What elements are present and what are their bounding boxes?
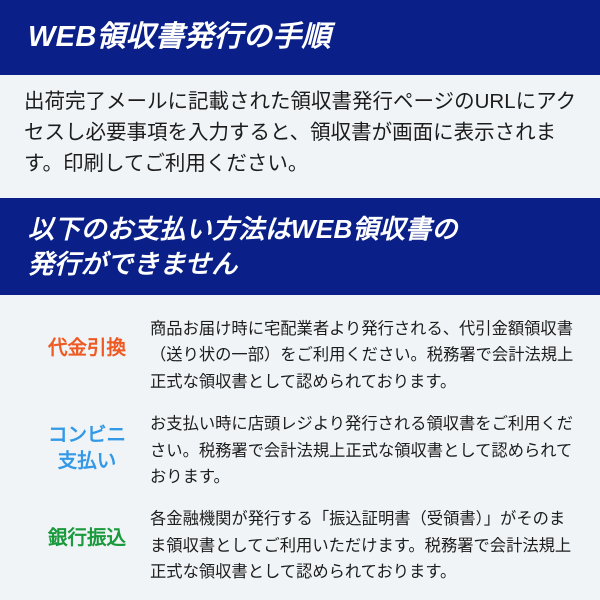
- payment-method-label-konbini: コンビニ 支払い: [26, 407, 148, 474]
- payment-method-row-cod: 代金引換 商品お届け時に宅配業者より発行される、代引金額領収書（送り状の一部）を…: [0, 312, 600, 395]
- payment-method-label-bank: 銀行振込: [26, 502, 148, 551]
- payment-method-row-konbini: コンビニ 支払い お支払い時に店頭レジより発行される領収書をご利用ください。税務…: [0, 407, 600, 490]
- payment-method-description-konbini: お支払い時に店頭レジより発行される領収書をご利用ください。税務署で会計法規上正式…: [148, 407, 576, 490]
- intro-paragraph: 出荷完了メールに記載された領収書発行ページのURLにアクセスし必要事項を入力する…: [24, 86, 580, 179]
- section-title: 以下のお支払い方法はWEB領収書の 発行ができません: [28, 212, 458, 282]
- receipt-info-page: WEB領収書発行の手順 出荷完了メールに記載された領収書発行ページのURLにアク…: [0, 0, 600, 600]
- payment-method-description-bank: 各金融機関が発行する「振込証明書（受領書）」がそのまま領収書としてご利用いただけ…: [148, 502, 576, 585]
- section-header-banner: 以下のお支払い方法はWEB領収書の 発行ができません: [0, 198, 600, 295]
- page-header-banner: WEB領収書発行の手順: [0, 0, 600, 75]
- page-title: WEB領収書発行の手順: [28, 19, 331, 57]
- payment-method-description-cod: 商品お届け時に宅配業者より発行される、代引金額領収書（送り状の一部）をご利用くだ…: [148, 312, 576, 395]
- payment-methods-list: 代金引換 商品お届け時に宅配業者より発行される、代引金額領収書（送り状の一部）を…: [0, 312, 600, 598]
- payment-method-row-bank: 銀行振込 各金融機関が発行する「振込証明書（受領書）」がそのまま領収書としてご利…: [0, 502, 600, 585]
- payment-method-label-cod: 代金引換: [26, 312, 148, 361]
